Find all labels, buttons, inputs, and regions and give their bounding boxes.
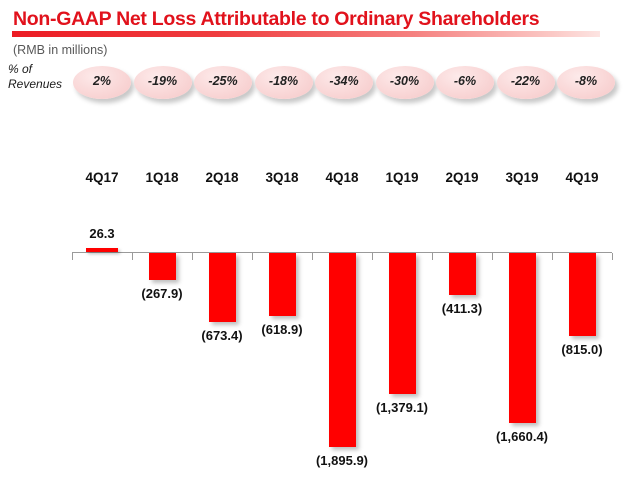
axis-tick (552, 253, 553, 260)
axis-tick (132, 253, 133, 260)
axis-tick (312, 253, 313, 260)
axis-tick (432, 253, 433, 260)
axis-tick (612, 253, 613, 260)
axis-tick (372, 253, 373, 260)
bar-4q19 (569, 253, 596, 336)
bar-value-label: (618.9) (234, 322, 330, 337)
bar-3q19 (509, 253, 536, 423)
bar-2q18 (209, 253, 236, 322)
bar-value-label: (411.3) (414, 301, 510, 316)
bar-value-label: (267.9) (114, 286, 210, 301)
bar-2q19 (449, 253, 476, 295)
bar-value-label: 26.3 (54, 226, 150, 241)
axis-tick (72, 253, 73, 260)
axis-tick (252, 253, 253, 260)
bar-4q17 (86, 248, 118, 252)
bar-4q18 (329, 253, 356, 447)
bar-chart-plot-area: 26.3(267.9)(673.4)(618.9)(1,895.9)(1,379… (0, 0, 640, 481)
bar-value-label: (1,895.9) (294, 453, 390, 468)
slide-canvas: Non-GAAP Net Loss Attributable to Ordina… (0, 0, 640, 481)
bar-3q18 (269, 253, 296, 316)
axis-tick (192, 253, 193, 260)
axis-tick (492, 253, 493, 260)
bar-value-label: (1,379.1) (354, 400, 450, 415)
bar-value-label: (815.0) (534, 342, 630, 357)
bar-1q19 (389, 253, 416, 394)
bar-value-label: (1,660.4) (474, 429, 570, 444)
bar-1q18 (149, 253, 176, 280)
